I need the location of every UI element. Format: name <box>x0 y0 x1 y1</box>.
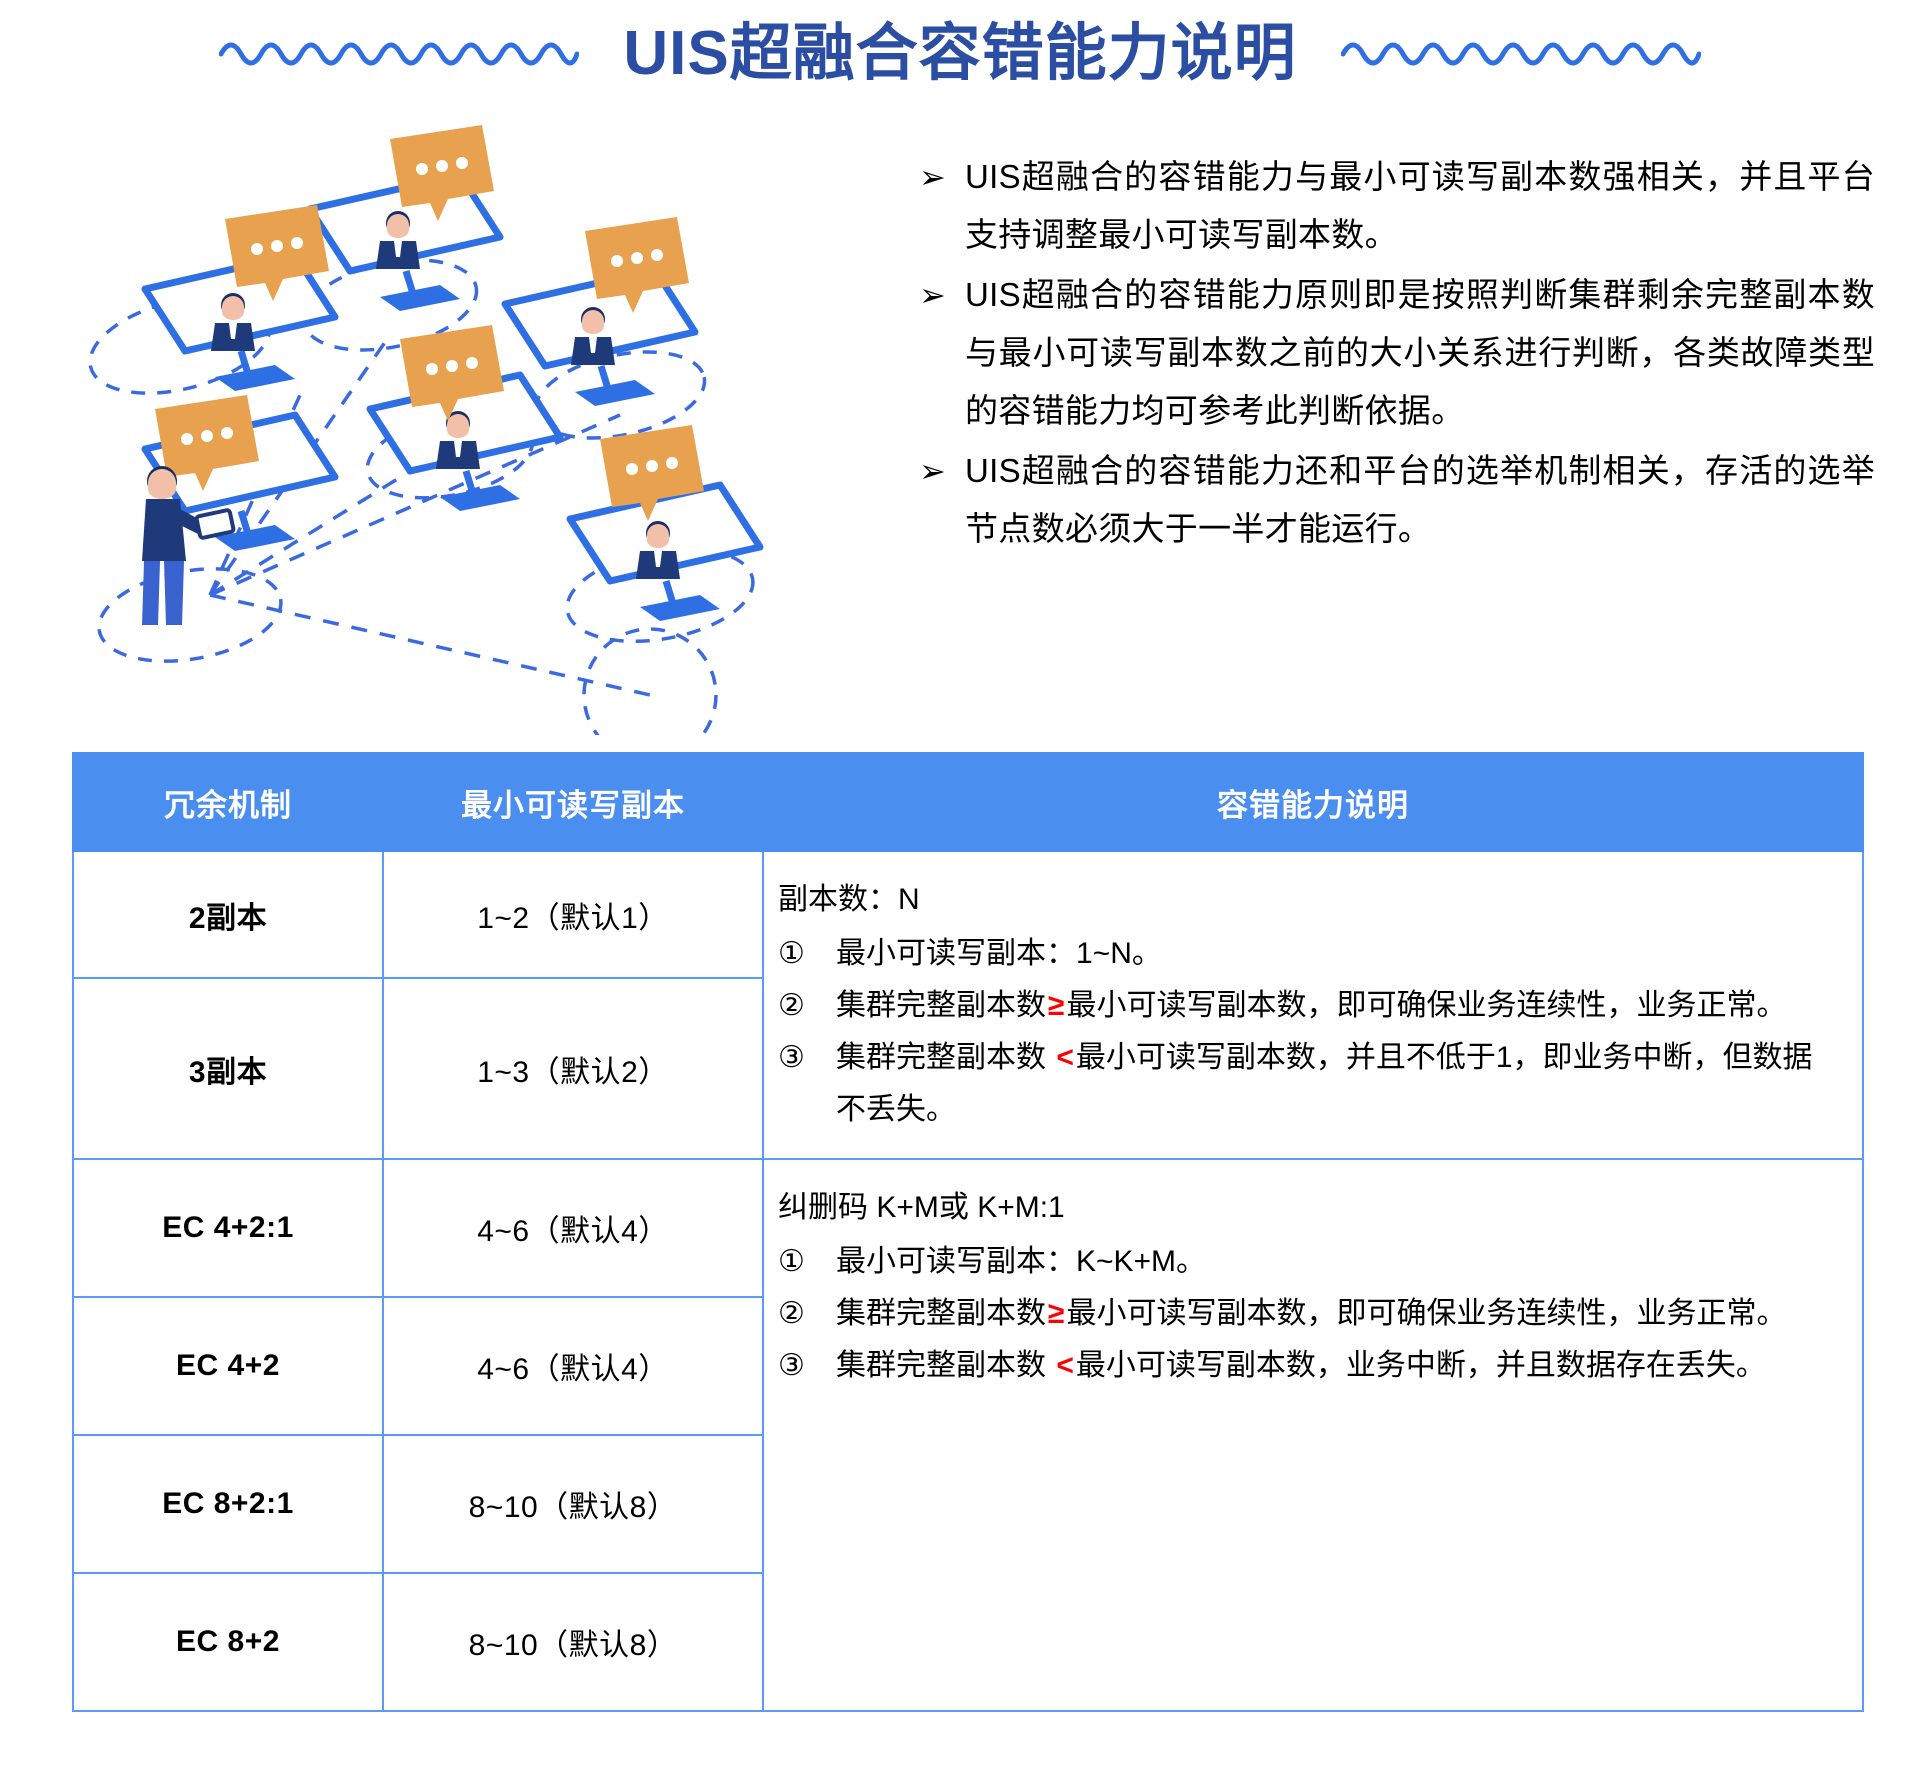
cell-description-replica: 副本数：N ① 最小可读写副本：1~N。 ② 集群完整副本数≥最小可读写副本数，… <box>763 851 1863 1159</box>
monitor-3 <box>505 217 695 406</box>
item-text: 集群完整副本数 <最小可读写副本数，并且不低于1，即业务中断，但数据不丢失。 <box>836 1032 1836 1136</box>
item-number: ③ <box>778 1340 836 1392</box>
monitor-1 <box>310 125 500 311</box>
item-text: 集群完整副本数≥最小可读写副本数，即可确保业务连续性，业务正常。 <box>836 1288 1836 1340</box>
table-row: 2副本 1~2（默认1） 副本数：N ① 最小可读写副本：1~N。 ② 集群完整… <box>73 851 1863 978</box>
list-item: ➢ UIS超融合的容错能力还和平台的选举机制相关，存活的选举节点数必须大于一半才… <box>915 442 1875 558</box>
column-header-description: 容错能力说明 <box>763 753 1863 851</box>
cell-min-replica: 1~2（默认1） <box>383 851 763 978</box>
column-header-mechanism: 冗余机制 <box>73 753 383 851</box>
bullet-arrow-icon: ➢ <box>915 266 965 324</box>
item-number: ① <box>778 1236 836 1288</box>
monitor-2 <box>145 205 335 391</box>
bullet-list: ➢ UIS超融合的容错能力与最小可读写副本数强相关，并且平台支持调整最小可读写副… <box>915 148 1875 560</box>
cell-mechanism: EC 4+2:1 <box>73 1159 383 1297</box>
wave-squiggle-right-icon <box>1341 34 1701 74</box>
wave-squiggle-left-icon <box>219 34 579 74</box>
cell-min-replica: 1~3（默认2） <box>383 978 763 1159</box>
comparison-operator: ≥ <box>1046 989 1066 1022</box>
cell-min-replica: 8~10（默认8） <box>383 1435 763 1573</box>
description-item: ③ 集群完整副本数 <最小可读写副本数，并且不低于1，即业务中断，但数据不丢失。 <box>778 1032 1836 1136</box>
cell-min-replica: 4~6（默认4） <box>383 1297 763 1435</box>
item-text: 集群完整副本数 <最小可读写副本数，业务中断，并且数据存在丢失。 <box>836 1340 1836 1392</box>
item-number: ① <box>778 928 836 980</box>
bullet-text: UIS超融合的容错能力还和平台的选举机制相关，存活的选举节点数必须大于一半才能运… <box>965 442 1875 558</box>
bullet-text: UIS超融合的容错能力与最小可读写副本数强相关，并且平台支持调整最小可读写副本数… <box>965 148 1875 264</box>
comparison-operator: < <box>1054 1041 1076 1074</box>
monitor-5 <box>570 425 760 621</box>
description-item: ③ 集群完整副本数 <最小可读写副本数，业务中断，并且数据存在丢失。 <box>778 1340 1836 1392</box>
comparison-operator: < <box>1054 1349 1076 1382</box>
isometric-monitors-network-illustration <box>60 95 900 735</box>
bullet-arrow-icon: ➢ <box>915 148 965 206</box>
monitor-4 <box>370 325 560 511</box>
cell-mechanism: 2副本 <box>73 851 383 978</box>
description-item: ② 集群完整副本数≥最小可读写副本数，即可确保业务连续性，业务正常。 <box>778 1288 1836 1340</box>
item-text: 集群完整副本数≥最小可读写副本数，即可确保业务连续性，业务正常。 <box>836 980 1836 1032</box>
cell-mechanism: EC 8+2 <box>73 1573 383 1711</box>
table-header: 冗余机制 最小可读写副本 容错能力说明 <box>73 753 1863 851</box>
cell-min-replica: 8~10（默认8） <box>383 1573 763 1711</box>
cell-mechanism: EC 4+2 <box>73 1297 383 1435</box>
table-row: EC 4+2:1 4~6（默认4） 纠删码 K+M或 K+M:1 ① 最小可读写… <box>73 1159 1863 1297</box>
table-body: 2副本 1~2（默认1） 副本数：N ① 最小可读写副本：1~N。 ② 集群完整… <box>73 851 1863 1711</box>
cell-mechanism: 3副本 <box>73 978 383 1159</box>
item-number: ③ <box>778 1032 836 1084</box>
description-heading: 纠删码 K+M或 K+M:1 <box>778 1182 1836 1234</box>
fault-tolerance-table: 冗余机制 最小可读写副本 容错能力说明 2副本 1~2（默认1） 副本数：N ①… <box>72 752 1864 1712</box>
list-item: ➢ UIS超融合的容错能力原则即是按照判断集群剩余完整副本数与最小可读写副本数之… <box>915 266 1875 440</box>
cell-mechanism: EC 8+2:1 <box>73 1435 383 1573</box>
description-heading: 副本数：N <box>778 874 1836 926</box>
comparison-operator: ≥ <box>1046 1297 1066 1330</box>
table-header-row: 冗余机制 最小可读写副本 容错能力说明 <box>73 753 1863 851</box>
illustration-svg <box>60 95 900 735</box>
item-text: 最小可读写副本：1~N。 <box>836 928 1836 980</box>
item-number: ② <box>778 980 836 1032</box>
description-item: ② 集群完整副本数≥最小可读写副本数，即可确保业务连续性，业务正常。 <box>778 980 1836 1032</box>
item-number: ② <box>778 1288 836 1340</box>
bullet-arrow-icon: ➢ <box>915 442 965 500</box>
list-item: ➢ UIS超融合的容错能力与最小可读写副本数强相关，并且平台支持调整最小可读写副… <box>915 148 1875 264</box>
column-header-min-replica: 最小可读写副本 <box>383 753 763 851</box>
page-header: UIS超融合容错能力说明 <box>0 0 1920 108</box>
page-title: UIS超融合容错能力说明 <box>623 23 1296 85</box>
bullet-text: UIS超融合的容错能力原则即是按照判断集群剩余完整副本数与最小可读写副本数之前的… <box>965 266 1875 440</box>
cell-description-erasure-code: 纠删码 K+M或 K+M:1 ① 最小可读写副本：K~K+M。 ② 集群完整副本… <box>763 1159 1863 1711</box>
description-item: ① 最小可读写副本：K~K+M。 <box>778 1236 1836 1288</box>
item-text: 最小可读写副本：K~K+M。 <box>836 1236 1836 1288</box>
cell-min-replica: 4~6（默认4） <box>383 1159 763 1297</box>
description-item: ① 最小可读写副本：1~N。 <box>778 928 1836 980</box>
